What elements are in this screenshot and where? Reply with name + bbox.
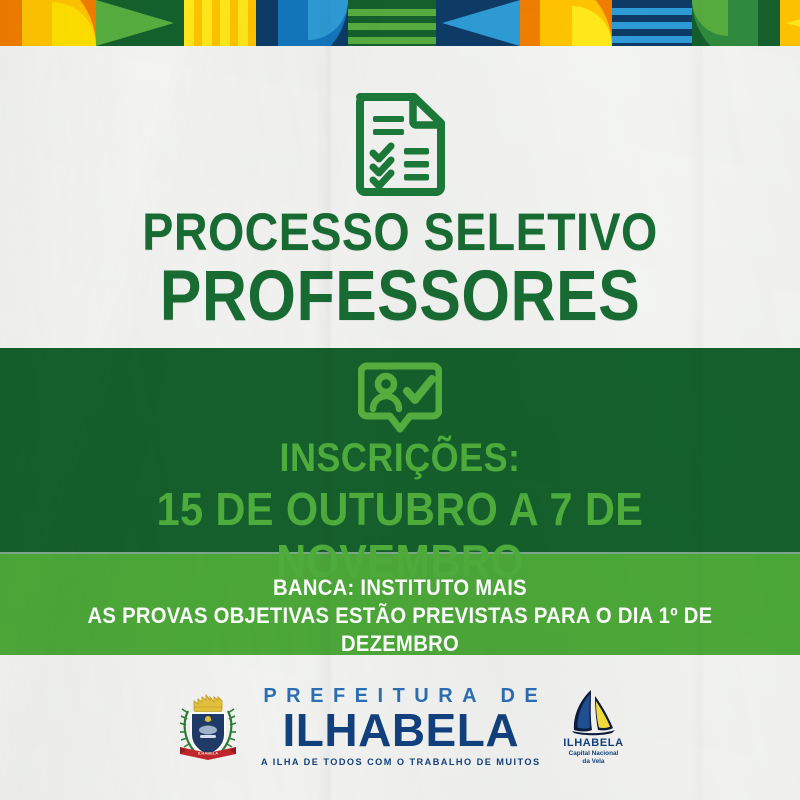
svg-text:ILHABELA: ILHABELA [198, 750, 218, 755]
city-tagline: A ILHA DE TODOS COM O TRABALHO DE MUITOS [261, 758, 541, 767]
main-title-block: PROCESSO SELETIVO PROFESSORES [0, 206, 800, 333]
prefeitura-label: PREFEITURA DE [254, 686, 547, 706]
inscriptions-label: INSCRIÇÕES: [40, 437, 760, 479]
title-line-1: PROCESSO SELETIVO [48, 206, 752, 259]
sailboat-logo-block: ILHABELA Capital Nacional da Vela [563, 688, 623, 766]
poster-content: PROCESSO SELETIVO PROFESSORES INSCRIÇÕES… [0, 0, 800, 800]
inscriptions-period: 15 DE OUTUBRO A 7 DE NOVEMBRO [40, 483, 760, 587]
checklist-document-icon-wrap [0, 88, 800, 196]
exam-info-block: BANCA: INSTITUTO MAIS AS PROVAS OBJETIVA… [0, 575, 800, 658]
exam-info-line-2: AS PROVAS OBJETIVAS ESTÃO PREVISTAS PARA… [32, 602, 768, 658]
sail-logo-name: ILHABELA [563, 738, 623, 749]
person-check-speech-bubble-icon [358, 360, 442, 434]
poster-canvas: PROCESSO SELETIVO PROFESSORES INSCRIÇÕES… [0, 0, 800, 800]
sailboat-logo [566, 688, 620, 736]
exam-info-line-1: BANCA: INSTITUTO MAIS [32, 575, 768, 601]
title-line-2: PROFESSORES [48, 261, 752, 333]
sail-logo-subtitle-2: da Vela [582, 758, 604, 765]
sail-logo-subtitle-1: Capital Nacional [569, 750, 619, 757]
footer-logo-lockup: ILHABELA PREFEITURA DE ILHABELA A ILHA D… [0, 686, 800, 767]
ilhabela-coat-of-arms: ILHABELA [176, 691, 240, 763]
city-name: ILHABELA [283, 707, 520, 753]
prefeitura-wordmark: PREFEITURA DE ILHABELA A ILHA DE TODOS C… [254, 686, 547, 767]
checklist-document-icon [350, 88, 450, 196]
person-check-speech-bubble-icon-wrap [0, 360, 800, 434]
inscriptions-block: INSCRIÇÕES: 15 DE OUTUBRO A 7 DE NOVEMBR… [0, 437, 800, 587]
